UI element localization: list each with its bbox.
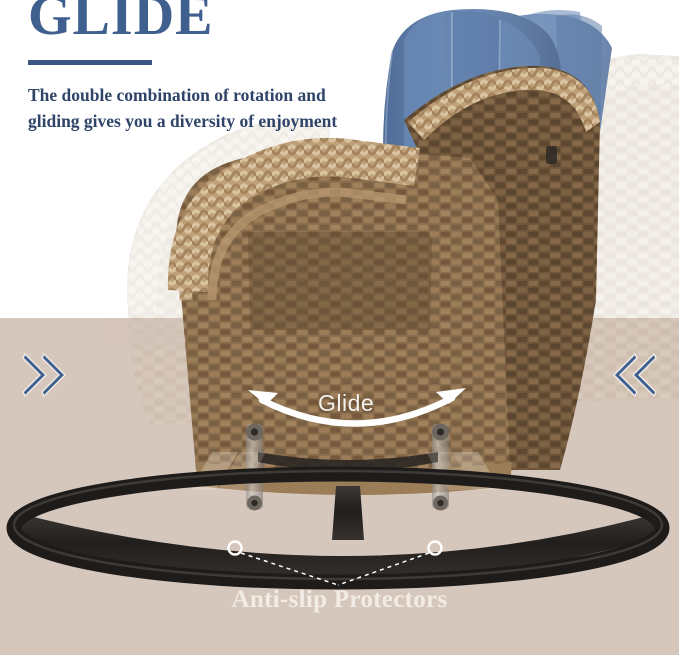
swivel-base — [14, 471, 662, 582]
page-title: GLIDE — [28, 0, 214, 44]
title-underline-rule — [28, 60, 152, 65]
subtitle-line-1: The double combination of rotation and — [28, 85, 326, 105]
subtitle: The double combination of rotation and g… — [28, 82, 428, 134]
glide-annotation-label: Glide — [318, 392, 374, 415]
product-feature-image: Glide GLIDE The double combination of ro… — [0, 0, 679, 655]
anti-slip-caption: Anti-slip Protectors — [0, 585, 679, 615]
subtitle-line-2: gliding gives you a diversity of enjoyme… — [28, 108, 428, 134]
